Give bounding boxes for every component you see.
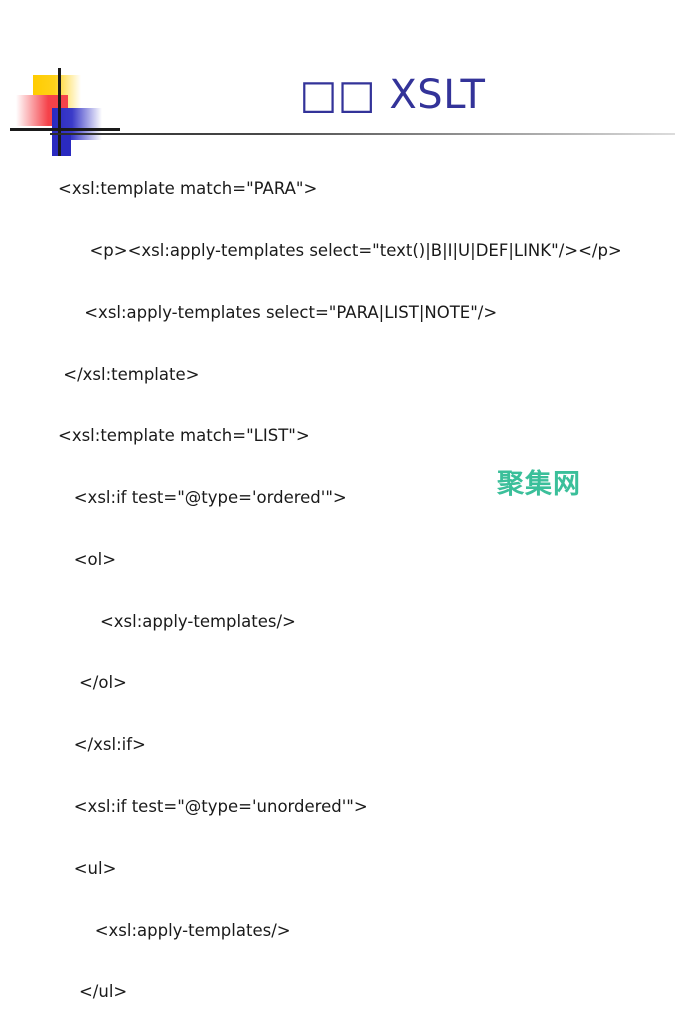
site-watermark: 聚集网 <box>497 470 581 500</box>
logo-blue-rectangle <box>52 108 102 140</box>
title-divider <box>50 133 675 135</box>
code-line: <xsl:template match="PARA"> <box>58 179 673 200</box>
code-line: </ul> <box>58 982 673 1003</box>
code-line: </ol> <box>58 673 673 694</box>
code-line: <xsl:apply-templates/> <box>58 612 673 633</box>
code-line: <xsl:template match="LIST"> <box>58 426 673 447</box>
code-line: <xsl:apply-templates select="PARA|LIST|N… <box>58 303 673 324</box>
code-line: <xsl:apply-templates/> <box>58 921 673 942</box>
code-line: </xsl:template> <box>58 365 673 386</box>
code-line: </xsl:if> <box>58 735 673 756</box>
code-line: <p><xsl:apply-templates select="text()|B… <box>58 241 673 262</box>
code-line: <xsl:if test="@type='unordered'"> <box>58 797 673 818</box>
code-listing: <xsl:template match="PARA"> <p><xsl:appl… <box>58 138 673 1020</box>
page-title: □□ XSLT <box>120 72 665 118</box>
code-line: <ol> <box>58 550 673 571</box>
code-line: <ul> <box>58 859 673 880</box>
logo-red-rectangle <box>16 95 68 126</box>
logo-horizontal-line <box>10 128 120 131</box>
slide-canvas: □□ XSLT <xsl:template match="PARA"> <p><… <box>0 0 680 510</box>
logo-yellow-rectangle <box>33 75 81 109</box>
